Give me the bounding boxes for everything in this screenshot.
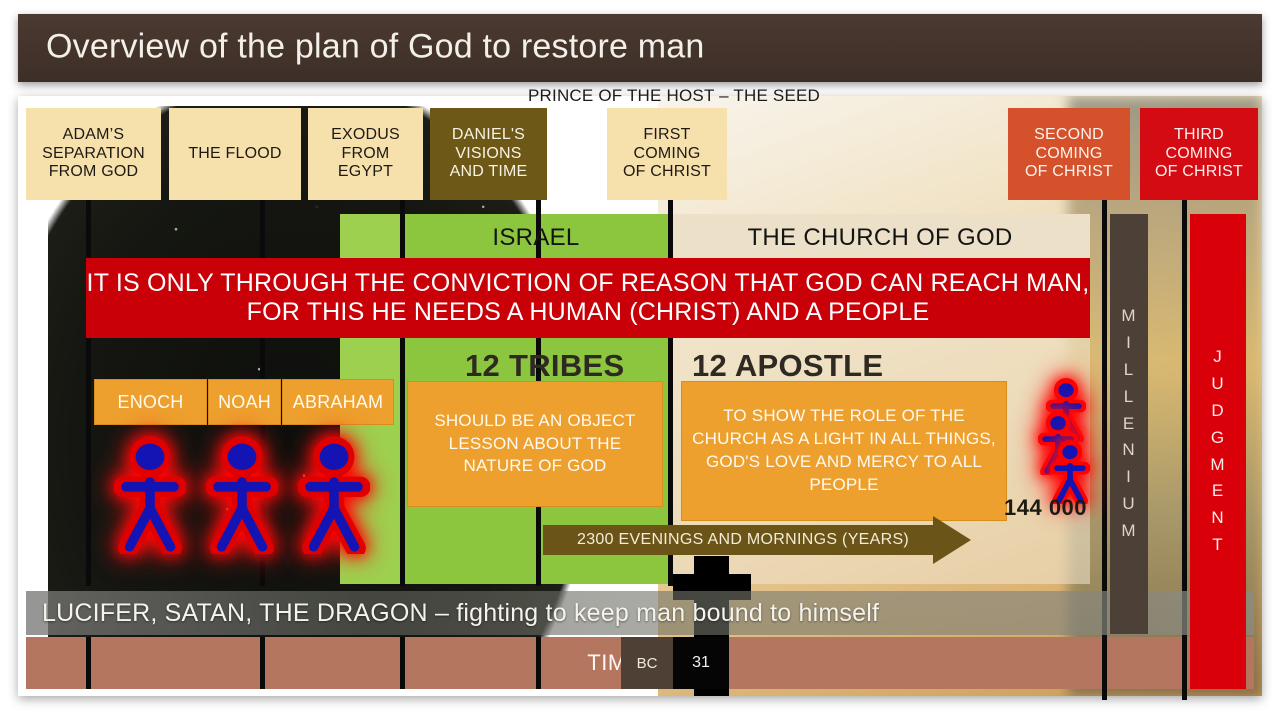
millenium-char: I [1126,464,1132,491]
millenium-char: M [1121,518,1136,545]
event-line: COMING [1155,145,1243,164]
timeline-tick-4 [536,637,541,689]
stick-figure-icon [298,434,370,554]
timeline-tick-2 [260,637,265,689]
event-line: EXODUS [331,126,400,145]
patriarch-box-noah[interactable]: NOAH [208,379,281,425]
timeline-year-marker: 31 [673,637,729,689]
millenium-char: N [1122,437,1135,464]
prince-of-host-label: PRINCE OF THE HOST – THE SEED [528,86,820,106]
event-line: FROM [331,145,400,164]
judgment-char: U [1211,371,1224,398]
timeline-tick-6 [1182,637,1187,689]
stick-figure-group-144000 [1036,378,1098,508]
event-box-third-coming[interactable]: THIRD COMING OF CHRIST [1140,108,1258,200]
millenium-char: L [1124,384,1134,411]
event-line: OF CHRIST [1025,163,1113,182]
prophecy-arrow-bar: 2300 EVENINGS AND MORNINGS (YEARS) [543,525,933,555]
timeline-tick-3 [400,637,405,689]
event-line: OF CHRIST [623,163,711,182]
event-line: FIRST [623,126,711,145]
timeline-tick-1 [86,637,91,689]
millenium-char: I [1126,330,1132,357]
judgment-column: J U D G M E N T [1190,214,1246,689]
event-line: ADAM’S [42,126,145,145]
section-title-church: THE CHURCH OF GOD [670,214,1090,262]
lucifer-banner: LUCIFER, SATAN, THE DRAGON – fighting to… [26,591,1254,635]
slide-root: Overview of the plan of God to restore m… [0,0,1280,720]
event-box-exodus-from-egypt[interactable]: EXODUS FROM EGYPT [308,108,423,200]
stick-figure-icon [114,434,186,554]
event-line: COMING [1025,145,1113,164]
event-line: DANIEL'S [450,126,528,145]
stick-figure-group-left [114,434,374,564]
event-box-adams-separation[interactable]: ADAM’S SEPARATION FROM GOD [26,108,161,200]
event-line: FROM GOD [42,163,145,182]
judgment-char: G [1211,425,1225,452]
judgment-char: T [1212,532,1223,559]
chart-frame: ADAM’S SEPARATION FROM GOD THE FLOOD EXO… [18,96,1262,696]
banner-line-1: IT IS ONLY THROUGH THE CONVICTION OF REA… [87,269,1090,299]
event-line: AND TIME [450,163,528,182]
banner-line-2: FOR THIS HE NEEDS A HUMAN (CHRIST) AND A… [247,298,930,328]
event-box-daniels-visions[interactable]: DANIEL'S VISIONS AND TIME [430,108,547,200]
event-line: THE FLOOD [188,145,281,164]
lucifer-banner-text: LUCIFER, SATAN, THE DRAGON – fighting to… [26,599,879,628]
slide-title-bar: Overview of the plan of God to restore m… [18,14,1262,82]
judgment-char: N [1211,505,1224,532]
label-144000: 144 000 [1004,495,1087,521]
event-box-the-flood[interactable]: THE FLOOD [169,108,301,200]
millenium-column: M I L L E N I U M [1110,214,1148,634]
timeline-bc-marker: BC [621,637,673,689]
arrow-head-icon [933,516,971,564]
conviction-banner: IT IS ONLY THROUGH THE CONVICTION OF REA… [86,258,1090,338]
apostle-description-box[interactable]: TO SHOW THE ROLE OF THE CHURCH AS A LIGH… [681,381,1007,521]
millenium-char: E [1123,411,1135,438]
judgment-char: M [1210,452,1225,479]
event-line: OF CHRIST [1155,163,1243,182]
event-line: EGYPT [331,163,400,182]
judgment-char: J [1213,344,1223,371]
judgment-char: D [1211,398,1224,425]
tribes-description-box[interactable]: SHOULD BE AN OBJECT LESSON ABOUT THE NAT… [407,381,663,507]
patriarch-box-abraham[interactable]: ABRAHAM [282,379,394,425]
heading-12-tribes: 12 TRIBES [465,348,624,384]
event-line: SECOND [1025,126,1113,145]
stick-figure-icon [206,434,278,554]
page-title: Overview of the plan of God to restore m… [46,28,705,67]
section-title-israel: ISRAEL [402,214,670,262]
judgment-char: E [1212,478,1224,505]
millenium-char: L [1124,357,1134,384]
heading-12-apostle: 12 APOSTLE [692,348,883,384]
millenium-char: M [1121,303,1136,330]
event-line: COMING [623,145,711,164]
prophecy-arrow-label: 2300 EVENINGS AND MORNINGS (YEARS) [543,531,909,549]
timeline-tick-5 [1102,637,1107,689]
event-box-first-coming[interactable]: FIRST COMING OF CHRIST [607,108,727,200]
event-box-second-coming[interactable]: SECOND COMING OF CHRIST [1008,108,1130,200]
millenium-char: U [1122,491,1135,518]
event-line: VISIONS [450,145,528,164]
event-line: THIRD [1155,126,1243,145]
patriarch-box-enoch[interactable]: ENOCH [94,379,207,425]
event-line: SEPARATION [42,145,145,164]
